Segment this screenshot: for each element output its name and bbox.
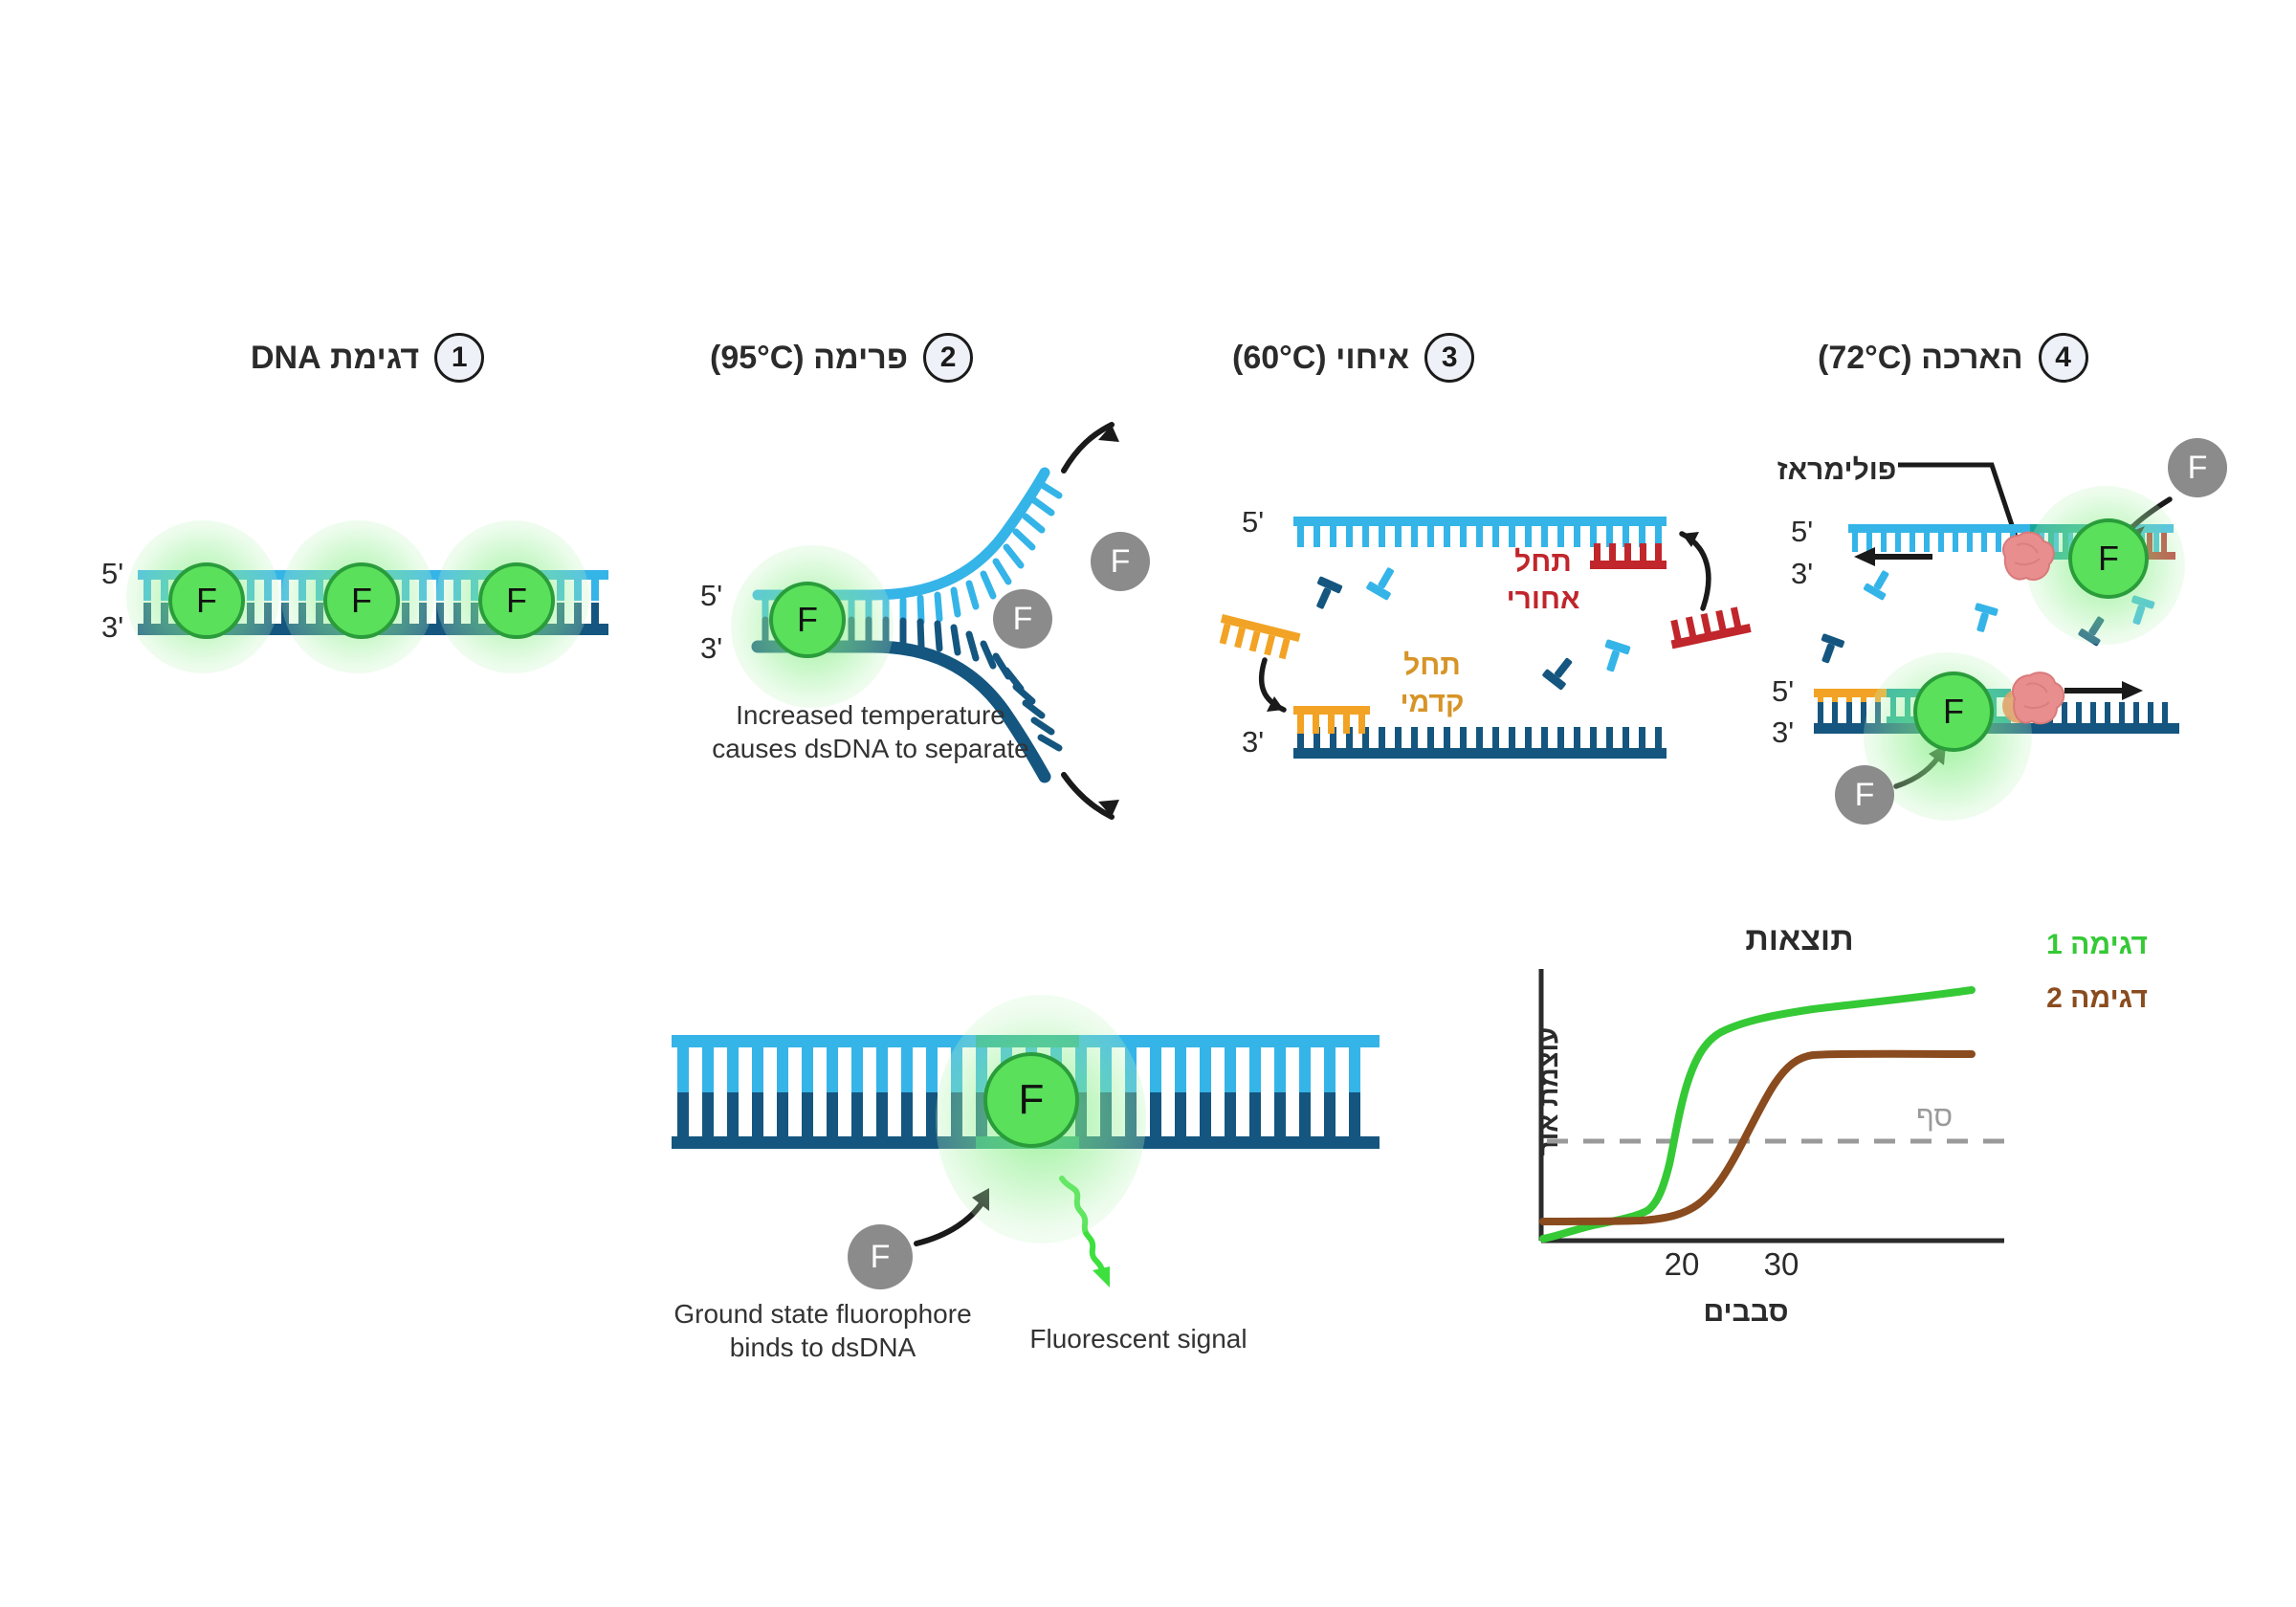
polymerase-icon xyxy=(1992,528,2059,587)
chart-xtick-30: 30 xyxy=(1748,1246,1815,1283)
panel-2-denaturation: 5' 3' xyxy=(689,411,1186,794)
step-header-3: 3 איחוי (60°C) xyxy=(1232,333,1474,383)
fluorophore-letter: F xyxy=(196,581,217,621)
fluorophore-letter: F xyxy=(797,600,818,640)
fluorophore-letter: F xyxy=(1013,601,1033,638)
step-number-badge: 4 xyxy=(2039,333,2088,383)
fluorophore-letter: F xyxy=(1943,692,1964,732)
fluorophore-bound: F xyxy=(478,562,555,639)
annealing-strands xyxy=(1225,488,1760,784)
fluorophore-letter: F xyxy=(506,581,527,621)
denature-caption-line1: Increased temperature xyxy=(670,698,1071,732)
fluorophore-letter: F xyxy=(1111,543,1131,581)
fluorophore-letter: F xyxy=(871,1239,891,1276)
fluorophore-ground-state: F xyxy=(848,1224,913,1289)
fluorophore-letter: F xyxy=(351,581,372,621)
fluorophore-bound: F xyxy=(168,562,245,639)
step-header-1: 1 דגימת DNA xyxy=(251,333,484,383)
step-title: הארכה (72°C) xyxy=(1818,340,2023,377)
ground-state-caption-line1: Ground state fluorophore xyxy=(612,1297,1033,1331)
fluorescent-signal-caption: Fluorescent signal xyxy=(976,1322,1301,1355)
fluorophore-released: F xyxy=(1091,532,1150,591)
chart-plot-area xyxy=(1488,923,2157,1325)
fluorophore-letter: F xyxy=(1019,1076,1045,1124)
ground-state-caption-line2: binds to dsDNA xyxy=(612,1331,1033,1364)
panel-4-extension: פולימראז 5' 3' xyxy=(1779,411,2296,823)
panel-fluorophore-binding: F F Ground state fluorophore binds to ds… xyxy=(660,1014,1406,1320)
fluorophore-released: F xyxy=(1835,765,1894,825)
fluorophore-letter: F xyxy=(1855,777,1875,814)
step-header-4: 4 הארכה (72°C) xyxy=(1818,333,2088,383)
polymerase-icon xyxy=(1998,668,2070,733)
reverse-primer-label: תחל אחורי xyxy=(1481,543,1605,618)
fluorophore-letter: F xyxy=(2098,539,2119,579)
results-chart: תוצאות דגימה 1 דגימה 2 עוצמת אור סף 20 3… xyxy=(1488,923,2157,1325)
chart-xtick-20: 20 xyxy=(1648,1246,1715,1283)
fluorophore-released: F xyxy=(2168,438,2227,497)
step-title: איחוי (60°C) xyxy=(1232,340,1409,377)
step-number-badge: 1 xyxy=(434,333,484,383)
three-prime-label: 3' xyxy=(1772,715,1794,750)
ground-state-caption: Ground state fluorophore binds to dsDNA xyxy=(612,1297,1033,1364)
step-header-2: 2 פרימה (95°C) xyxy=(710,333,973,383)
denature-caption-line2: causes dsDNA to separate xyxy=(670,732,1071,765)
panel-1-dsdna: 5' 3' xyxy=(86,536,622,689)
chart-x-axis-label: סבבים xyxy=(1622,1296,1870,1329)
fluorophore-released: F xyxy=(993,589,1052,649)
denature-caption: Increased temperature causes dsDNA to se… xyxy=(670,698,1071,765)
panel-3-annealing: 5' 3' xyxy=(1225,488,1760,784)
figure-canvas: 1 דגימת DNA 2 פרימה (95°C) 3 איחוי (60°C… xyxy=(0,0,2296,1607)
fluorophore-letter: F xyxy=(2188,450,2208,487)
fluorophore-bound: F xyxy=(323,562,400,639)
step-number-badge: 3 xyxy=(1424,333,1474,383)
chart-threshold-label: סף xyxy=(1916,1101,1953,1134)
step-number-badge: 2 xyxy=(923,333,973,383)
step-title: פרימה (95°C) xyxy=(710,340,908,377)
five-prime-label: 5' xyxy=(1772,674,1794,709)
fluorophore-bound: F xyxy=(1913,671,1994,752)
forward-primer-label: תחל קדמי xyxy=(1370,647,1494,721)
fluorophore-bound: F xyxy=(769,582,846,658)
fluorophore-bound: F xyxy=(2068,518,2149,599)
chart-series-sample-2 xyxy=(1543,1054,1972,1222)
fluorophore-bound: F xyxy=(983,1052,1079,1148)
step-title: דגימת DNA xyxy=(251,340,419,377)
